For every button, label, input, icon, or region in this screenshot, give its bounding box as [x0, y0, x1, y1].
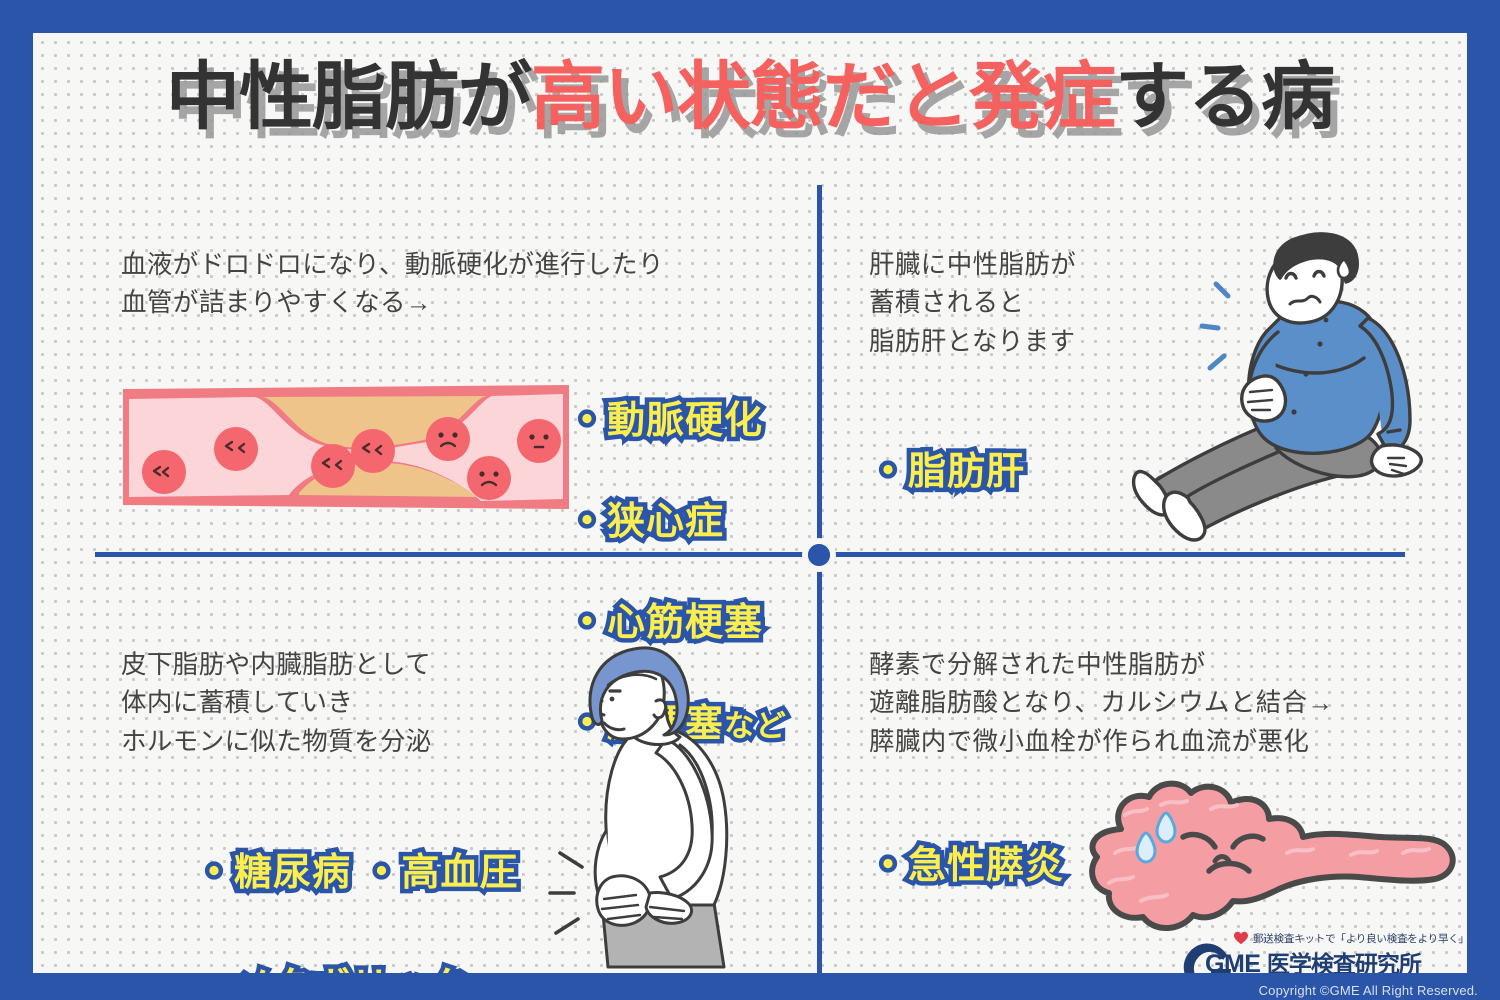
disease-item: ・糖尿病 ・高血圧: [195, 852, 519, 894]
logo-tagline: 郵送検査キットで「より良い検査をより早く」: [1253, 931, 1467, 946]
infographic-root: 中性脂肪が高い状態だと発症する病 血液がドロドロになり、動脈硬化が進行したり 血…: [0, 0, 1500, 1000]
divider-vertical: [817, 185, 822, 973]
quadrant-2-disease-list: ・脂肪肝: [869, 396, 1025, 548]
title-part-3: する病: [1115, 55, 1334, 138]
logo-brand-jp: 医学検査研究所: [1267, 951, 1421, 973]
red-blood-cell: [142, 450, 186, 494]
gme-logo[interactable]: 郵送検査キットで「より良い検査をより早く」 GME 医学検査研究所 株式会社GM…: [1193, 931, 1443, 973]
pancreas-illustration: [1063, 775, 1463, 950]
disease-item: ・動脈硬化: [568, 400, 763, 442]
disease-item: ・急性膵炎: [869, 845, 1064, 887]
copyright-text: Copyright ©GME All Right Reserved.: [1259, 983, 1478, 998]
content-card: 中性脂肪が高い状態だと発症する病 血液がドロドロになり、動脈硬化が進行したり 血…: [33, 33, 1467, 973]
page-title: 中性脂肪が高い状態だと発症する病: [33, 57, 1467, 137]
disease-item: ・メタボリック: [195, 966, 468, 973]
disease-item: ・心筋梗塞: [568, 602, 763, 644]
heart-icon: [1233, 931, 1249, 945]
red-blood-cell: [517, 419, 561, 463]
red-blood-cell: [351, 429, 395, 473]
quadrant-3-disease-list: ・糖尿病 ・高血圧 ・メタボリック シンドロームなど: [195, 788, 530, 973]
quadrant-1-paragraph: 血液がドロドロになり、動脈硬化が進行したり 血管が詰まりやすくなる→: [121, 246, 664, 323]
title-part-1: 中性脂肪が: [166, 55, 531, 138]
woman-illustration: [538, 641, 808, 971]
logo-brand: GME 医学検査研究所: [1205, 945, 1421, 973]
blood-vessel-svg: [121, 383, 571, 511]
quadrant-3-paragraph: 皮下脂肪や内臓脂肪として 体内に蓄積していき ホルモンに似た物質を分泌: [121, 646, 432, 761]
quadrant-4-disease-list: ・急性膵炎: [869, 790, 1064, 942]
title-part-2-highlight: 高い状態だと発症: [531, 55, 1115, 138]
disease-item: ・狭心症: [568, 501, 724, 543]
seated-man-illustration: [1038, 226, 1438, 556]
divider-center-dot-core: [808, 544, 830, 566]
disease-item: ・脂肪肝: [869, 451, 1025, 493]
logo-brand-latin: GME: [1205, 950, 1260, 973]
blood-vessel-illustration: [121, 383, 571, 511]
red-blood-cell: [426, 417, 470, 461]
seated-man-svg: [1038, 226, 1438, 556]
red-blood-cell: [467, 456, 511, 500]
pancreas-svg: [1063, 775, 1463, 950]
woman-svg: [538, 641, 808, 971]
red-blood-cell: [214, 427, 258, 471]
red-blood-cell: [311, 444, 355, 488]
quadrant-4-paragraph: 酵素で分解された中性脂肪が 遊離脂肪酸となり、カルシウムと結合→ 膵臓内で微小血…: [869, 646, 1333, 761]
